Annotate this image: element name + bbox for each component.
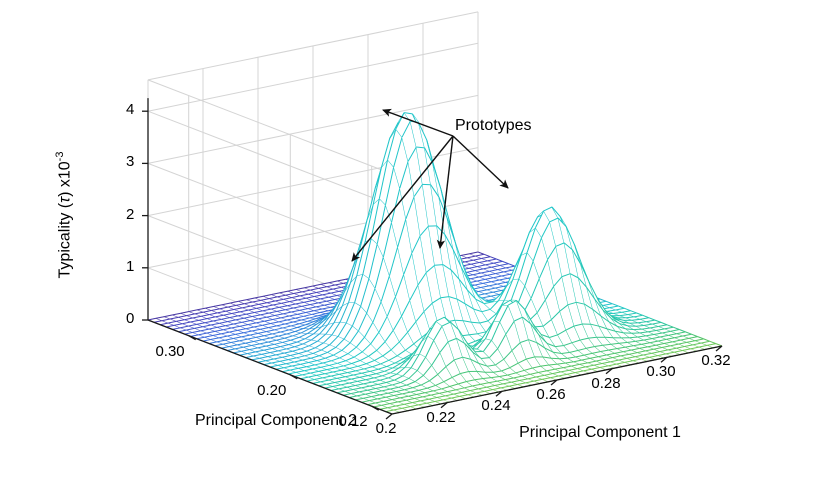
figure-container: 012340.20.220.240.260.280.300.320.300.20…: [0, 0, 840, 480]
prototype-arrow-2: [453, 136, 508, 188]
surface-plot: [0, 0, 840, 480]
